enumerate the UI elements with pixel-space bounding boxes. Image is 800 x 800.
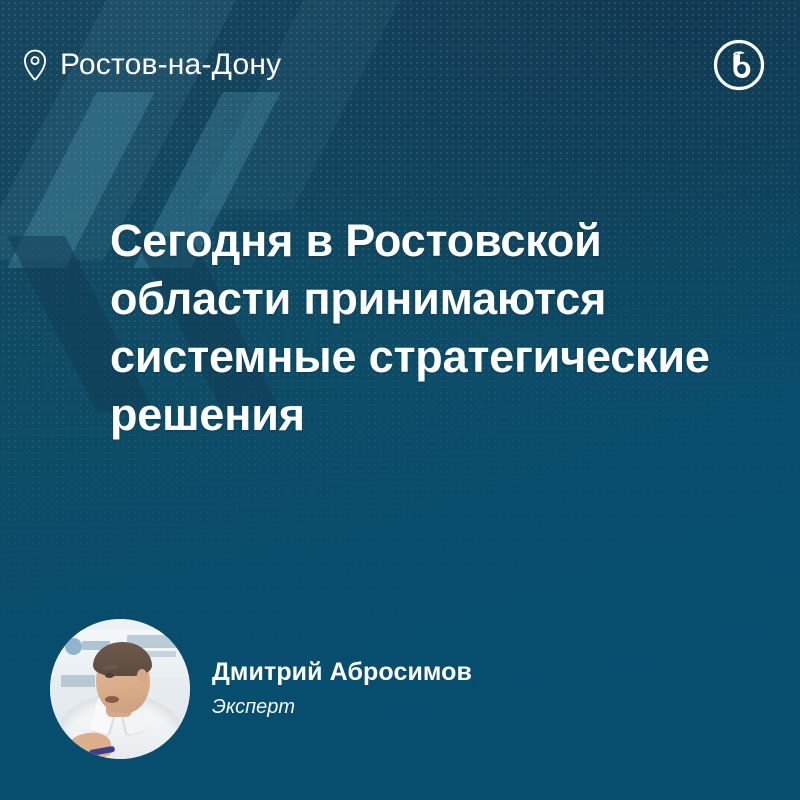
social-share-card: Ростов-на-Дону Сегодня в Ростовской обла… [0,0,800,800]
attribution-text: Дмитрий Абросимов Эксперт [212,659,472,719]
page-title: Сегодня в Ростовской области принимаются… [110,212,730,443]
avatar-ear [137,669,147,683]
speaker-avatar-photo [50,619,190,759]
avatar-presswall-logo [61,675,95,687]
kommersant-logo-icon[interactable] [712,38,766,92]
location-badge: Ростов-на-Дону [22,49,281,81]
speaker-name: Дмитрий Абросимов [212,659,472,687]
attribution-block: Дмитрий Абросимов Эксперт [50,616,750,761]
location-pin-icon [22,49,48,81]
location-label: Ростов-на-Дону [60,50,281,80]
speaker-role: Эксперт [212,696,472,718]
card-header: Ростов-на-Дону [0,0,800,130]
avatar-mouth [105,696,119,703]
avatar-eye [105,673,114,678]
